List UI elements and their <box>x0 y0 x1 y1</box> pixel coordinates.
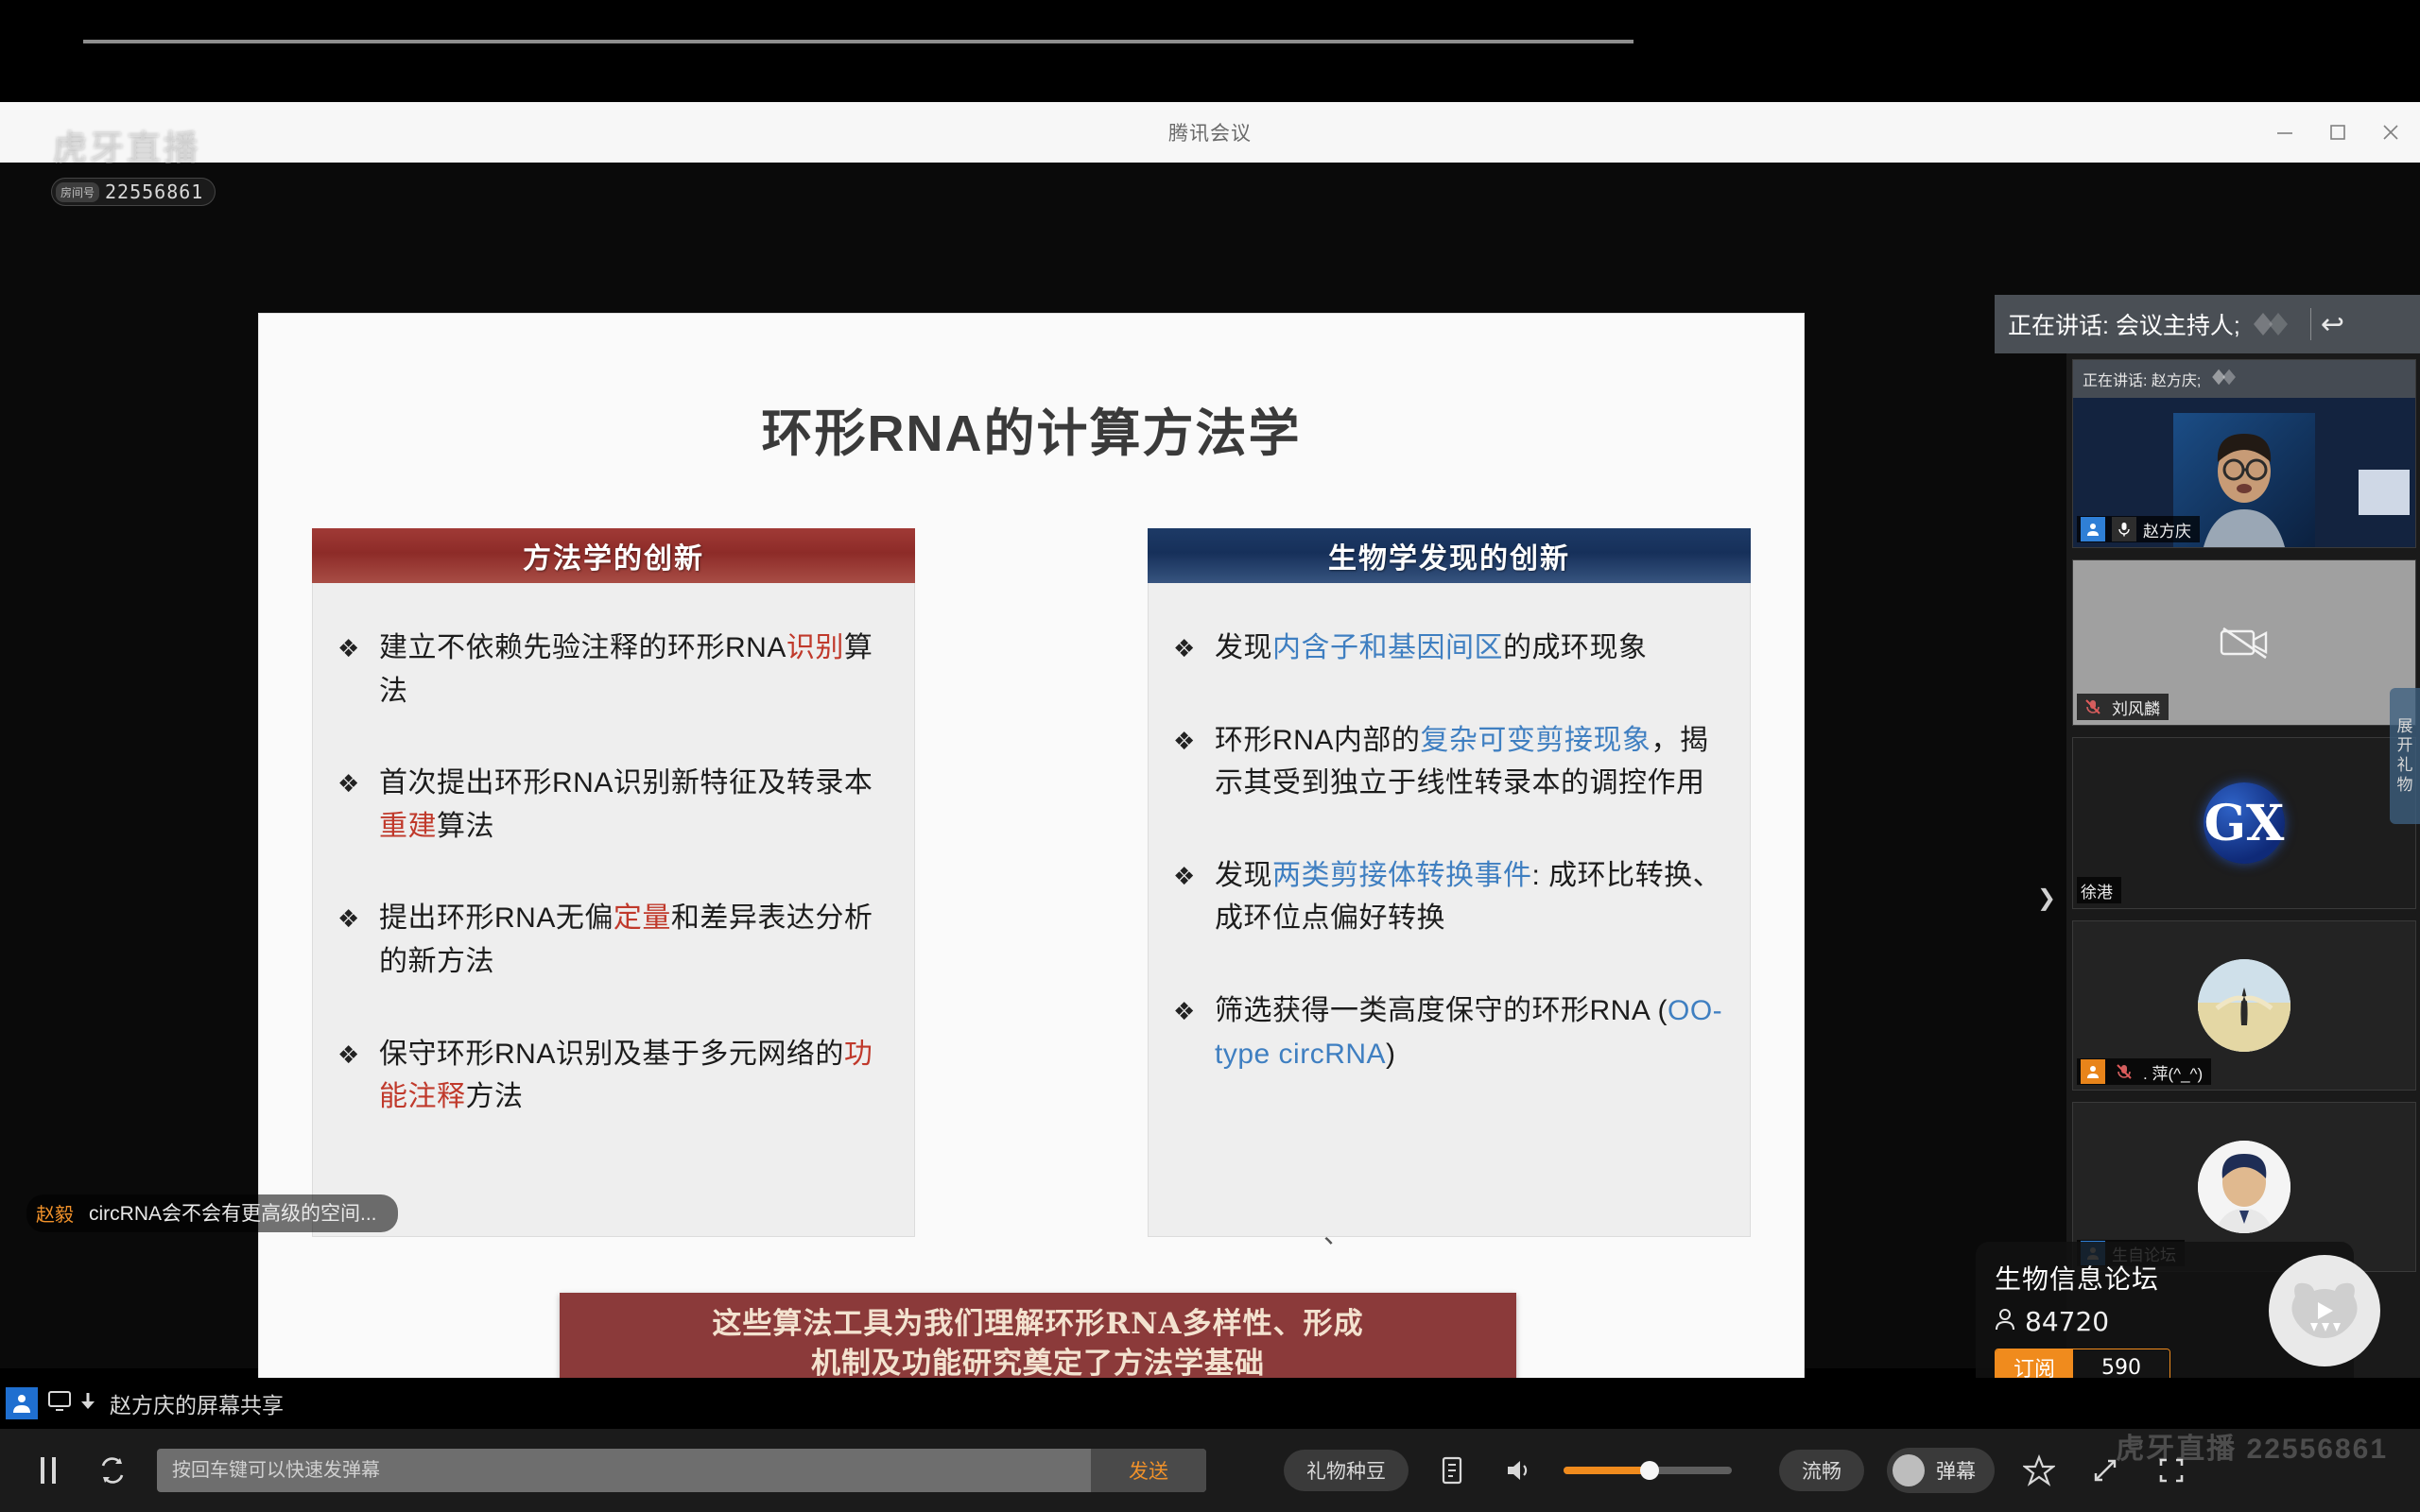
slide-title: 环形RNA的计算方法学 <box>259 391 1804 466</box>
bullet-marker-icon: ❖ <box>337 897 379 983</box>
column-body-biology: ❖发现内含子和基因间区的成环现象❖环形RNA内部的复杂可变剪接现象，揭示其受到独… <box>1148 583 1751 1237</box>
participant-tile-video[interactable]: 正在讲话: 赵方庆; <box>2072 359 2416 548</box>
wechat-icon <box>2250 309 2301 339</box>
tile-label: . 萍(^_^) <box>2077 1058 2211 1085</box>
letterbox-top <box>0 0 2420 102</box>
bullet-text: 建立不依赖先验注释的环形RNA识别算法 <box>379 627 890 713</box>
danmaku-message: 赵毅 circRNA会不会有更高级的空间... <box>26 1194 398 1232</box>
screen-share-icon <box>6 1387 38 1419</box>
screen-share-statusbar: 赵方庆的屏幕共享 <box>0 1378 2420 1429</box>
reply-arrow-icon[interactable]: ↩ <box>2321 308 2344 341</box>
huya-bottom-watermark: 虎牙直播 22556861 <box>2116 1425 2388 1467</box>
star-icon[interactable] <box>2017 1449 2061 1492</box>
quality-button[interactable]: 流畅 <box>1779 1450 1864 1491</box>
participant-tile-camera-off[interactable]: 刘风麟 <box>2072 559 2416 726</box>
room-id-label: 房间号 <box>56 182 99 202</box>
download-icon <box>78 1390 98 1417</box>
subscribe-card[interactable]: 生物信息论坛 84720 订阅 590 <box>1976 1242 2354 1391</box>
tile-label: 刘风麟 <box>2077 694 2169 720</box>
tile-label: 赵方庆 <box>2077 516 2200 542</box>
share-status-text: 赵方庆的屏幕共享 <box>110 1387 284 1419</box>
toggle-knob <box>1893 1454 1925 1486</box>
slide-bullet: ❖首次提出环形RNA识别新特征及转录本重建算法 <box>337 762 890 848</box>
wechat-icon <box>2208 367 2246 392</box>
participant-name: 赵方庆 <box>2143 518 2191 541</box>
participant-name: 刘风麟 <box>2112 696 2160 719</box>
slide-stray-mark: 、 <box>1323 1213 1350 1251</box>
gift-drawer-char: 物 <box>2397 777 2413 795</box>
close-icon[interactable] <box>2378 120 2403 145</box>
shared-slide: 环形RNA的计算方法学 方法学的创新 ❖建立不依赖先验注释的环形RNA识别算法❖… <box>259 314 1804 1470</box>
player-controlbar: 发送 礼物种豆 流畅 <box>0 1429 2420 1512</box>
tile-label: 徐港 <box>2077 877 2121 903</box>
bullet-span-normal: 建立不依赖先验注释的环形RNA <box>379 632 786 663</box>
slide-bullet: ❖发现内含子和基因间区的成环现象 <box>1173 627 1725 670</box>
bullet-span-blue: 复杂可变剪接现象 <box>1420 725 1651 756</box>
pause-icon[interactable] <box>26 1449 70 1492</box>
bullet-span-normal: ) <box>1386 1039 1396 1070</box>
slide-columns: 方法学的创新 ❖建立不依赖先验注释的环形RNA识别算法❖首次提出环形RNA识别新… <box>259 528 1804 1237</box>
minimize-icon[interactable] <box>2273 120 2297 145</box>
slide-bullet: ❖筛选获得一类高度保守的环形RNA (OO-type circRNA) <box>1173 989 1725 1075</box>
slide-bullet: ❖发现两类剪接体转换事件: 成环比转换、成环位点偏好转换 <box>1173 854 1725 940</box>
volume-icon[interactable] <box>1497 1449 1541 1492</box>
participant-tile-avatar[interactable]: . 萍(^_^) <box>2072 920 2416 1091</box>
bullet-span-normal: 首次提出环形RNA识别新特征及转录本 <box>379 767 873 799</box>
bullet-span-normal: 环形RNA内部的 <box>1215 725 1420 756</box>
mic-muted-icon <box>2112 1059 2136 1084</box>
window-controls <box>2273 102 2403 163</box>
banner-divider <box>2310 308 2311 340</box>
maximize-icon[interactable] <box>2325 120 2350 145</box>
slide-column-right: 生物学发现的创新 ❖发现内含子和基因间区的成环现象❖环形RNA内部的复杂可变剪接… <box>1148 528 1751 1237</box>
danmaku-input[interactable] <box>157 1460 1091 1482</box>
bullet-span-normal: 的成环现象 <box>1503 632 1648 663</box>
bullet-marker-icon: ❖ <box>1173 854 1215 940</box>
huya-tiger-icon[interactable] <box>2269 1255 2380 1366</box>
chevron-right-icon[interactable]: ❯ <box>2034 869 2059 926</box>
bullet-marker-icon: ❖ <box>337 1033 379 1119</box>
volume-knob[interactable] <box>1640 1461 1659 1480</box>
danmaku-toggle-label: 弹幕 <box>1936 1456 1976 1485</box>
meeting-window-title: 腾讯会议 <box>1168 118 1252 146</box>
huya-room-id-pill: 房间号 22556861 <box>51 178 216 206</box>
participant-name: 徐港 <box>2081 879 2113 902</box>
gift-drawer-char: 开 <box>2397 737 2413 755</box>
volume-slider[interactable] <box>1564 1467 1732 1474</box>
danmaku-toggle[interactable]: 弹幕 <box>1887 1448 1995 1493</box>
speaking-banner: 正在讲话: 会议主持人; ↩ <box>1995 295 2420 353</box>
bullet-span-red: 识别 <box>786 632 844 663</box>
bullet-span-normal: 算法 <box>437 811 494 842</box>
gx-logo-icon: GX <box>2204 782 2285 864</box>
room-id-value: 22556861 <box>105 180 203 203</box>
bullet-span-red: 定量 <box>614 902 671 934</box>
send-button[interactable]: 发送 <box>1091 1449 1206 1492</box>
bullet-text: 环形RNA内部的复杂可变剪接现象，揭示其受到独立于线性转录本的调控作用 <box>1215 719 1725 805</box>
column-body-methodology: ❖建立不依赖先验注释的环形RNA识别算法❖首次提出环形RNA识别新特征及转录本重… <box>312 583 915 1237</box>
danmaku-username: 赵毅 <box>36 1199 74 1227</box>
bullet-span-blue: 内含子和基因间区 <box>1272 632 1503 663</box>
share-progress-bar[interactable] <box>83 40 1633 43</box>
bullet-marker-icon: ❖ <box>337 762 379 848</box>
slide-column-left: 方法学的创新 ❖建立不依赖先验注释的环形RNA识别算法❖首次提出环形RNA识别新… <box>312 528 915 1237</box>
refresh-icon[interactable] <box>91 1449 134 1492</box>
mic-muted-icon <box>2081 695 2105 719</box>
viewer-count: 84720 <box>2025 1306 2109 1337</box>
gift-drawer-char: 礼 <box>2397 757 2413 775</box>
bullet-span-normal: 发现 <box>1215 632 1272 663</box>
avatar <box>2198 959 2290 1052</box>
slide-bullet: ❖环形RNA内部的复杂可变剪接现象，揭示其受到独立于线性转录本的调控作用 <box>1173 719 1725 805</box>
speaking-banner-text: 正在讲话: 会议主持人; <box>2008 307 2240 341</box>
bullet-marker-icon: ❖ <box>1173 627 1215 670</box>
bullet-span-normal: 保守环形RNA识别及基于多元网络的 <box>379 1039 844 1070</box>
person-icon <box>2081 1059 2105 1084</box>
qr-code-thumbnail <box>2359 470 2410 515</box>
person-icon <box>2081 517 2105 541</box>
participant-tile-logo[interactable]: GX 徐港 <box>2072 737 2416 909</box>
column-header-biology: 生物学发现的创新 <box>1148 528 1751 583</box>
participant-name: . 萍(^_^) <box>2143 1060 2203 1084</box>
stream-stage: 腾讯会议 环形RNA的计算方法学 方法学的创新 ❖建立不依赖先 <box>0 0 2420 1512</box>
list-icon[interactable] <box>1431 1449 1475 1492</box>
inner-speaking-text: 正在讲话: 赵方庆; <box>2083 368 2201 390</box>
controlbar-right: 礼物种豆 流畅 <box>1284 1448 2193 1493</box>
danmaku-input-wrap[interactable]: 发送 <box>157 1449 1206 1492</box>
gift-button[interactable]: 礼物种豆 <box>1284 1450 1409 1491</box>
huya-brand-watermark: 虎牙直播 <box>53 121 200 170</box>
bullet-text: 保守环形RNA识别及基于多元网络的功能注释方法 <box>379 1033 890 1119</box>
monitor-icon <box>47 1390 72 1417</box>
bullet-text: 首次提出环形RNA识别新特征及转录本重建算法 <box>379 762 890 848</box>
bullet-span-normal: 方法 <box>466 1081 524 1112</box>
bullet-span-normal: 发现 <box>1215 860 1272 891</box>
bullet-marker-icon: ❖ <box>1173 719 1215 805</box>
slide-bullet: ❖建立不依赖先验注释的环形RNA识别算法 <box>337 627 890 713</box>
meeting-titlebar: 腾讯会议 <box>0 102 2420 163</box>
avatar <box>2198 1141 2290 1233</box>
gift-drawer-handle[interactable]: 展 开 礼 物 <box>2390 688 2420 824</box>
banner-line-1: 这些算法工具为我们理解环形RNA多样性、形成 <box>712 1305 1363 1345</box>
bullet-text: 发现两类剪接体转换事件: 成环比转换、成环位点偏好转换 <box>1215 854 1725 940</box>
bullet-span-red: 重建 <box>379 811 437 842</box>
column-header-methodology: 方法学的创新 <box>312 528 915 583</box>
bullet-text: 提出环形RNA无偏定量和差异表达分析的新方法 <box>379 897 890 983</box>
bullet-span-normal: 提出环形RNA无偏 <box>379 902 614 934</box>
meeting-window: 腾讯会议 环形RNA的计算方法学 方法学的创新 ❖建立不依赖先 <box>0 102 2420 1368</box>
person-icon <box>1995 1308 2015 1335</box>
bullet-marker-icon: ❖ <box>337 627 379 713</box>
bullet-span-normal: 筛选获得一类高度保守的环形RNA ( <box>1215 995 1668 1026</box>
volume-fill <box>1564 1467 1648 1474</box>
danmaku-text: circRNA会不会有更高级的空间... <box>89 1198 377 1227</box>
gift-drawer-char: 展 <box>2397 718 2413 736</box>
slide-bullet: ❖保守环形RNA识别及基于多元网络的功能注释方法 <box>337 1033 890 1119</box>
slide-bullet: ❖提出环形RNA无偏定量和差异表达分析的新方法 <box>337 897 890 983</box>
bullet-text: 筛选获得一类高度保守的环形RNA (OO-type circRNA) <box>1215 989 1725 1075</box>
bullet-span-blue: 两类剪接体转换事件 <box>1272 860 1532 891</box>
mic-icon <box>2112 517 2136 541</box>
bullet-text: 发现内含子和基因间区的成环现象 <box>1215 627 1648 670</box>
bullet-marker-icon: ❖ <box>1173 989 1215 1075</box>
camera-off-icon <box>2219 623 2270 662</box>
inner-speaking-banner: 正在讲话: 赵方庆; <box>2073 360 2415 398</box>
